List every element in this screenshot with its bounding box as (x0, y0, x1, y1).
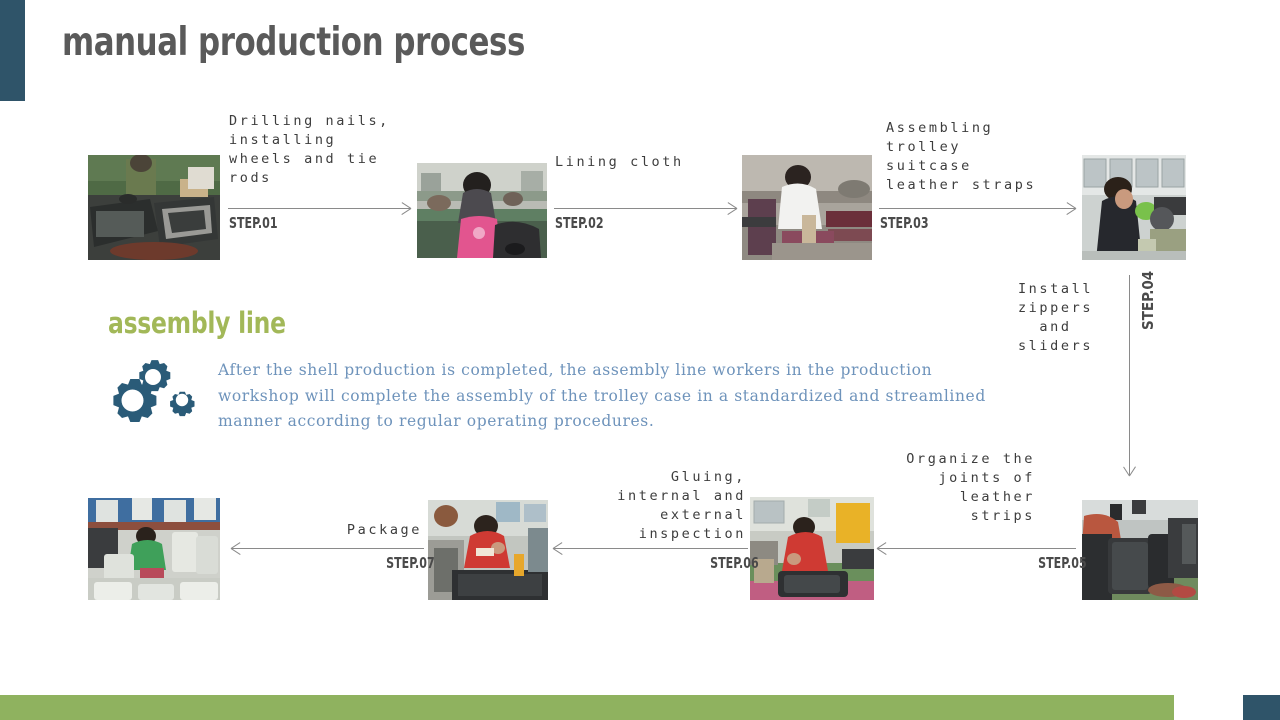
photo-6 (750, 497, 874, 600)
step-07-caption: Package (250, 521, 422, 540)
step-06-caption: Gluing, internal and external inspection (570, 468, 746, 544)
arrow-line (554, 208, 736, 209)
page-title: manual production process (62, 20, 525, 66)
gears-icon-svg (110, 356, 202, 442)
step-06-label: STEP.06 (710, 554, 759, 572)
photo-1 (88, 155, 220, 260)
arrow-head-left-icon (231, 543, 242, 554)
arrow-line (554, 548, 748, 549)
arrow-head-down-icon (1124, 465, 1135, 476)
step-01-caption: Drilling nails, installing wheels and ti… (229, 112, 404, 188)
step-01-label: STEP.01 (229, 214, 278, 232)
step-04-caption: Install zippers and sliders (1008, 280, 1103, 356)
arrow-head-left-icon (877, 543, 888, 554)
arrow-line (879, 208, 1075, 209)
photo-2-image (417, 163, 547, 258)
photo-2 (417, 163, 547, 258)
step-03-label: STEP.03 (880, 214, 929, 232)
photo-3 (742, 155, 872, 260)
arrow-head-right-icon (1065, 203, 1076, 214)
photo-1-image (88, 155, 220, 260)
photo-8-image (88, 498, 220, 600)
arrow-head-left-icon (553, 543, 564, 554)
step-05-label: STEP.05 (1038, 554, 1087, 572)
step-02-label: STEP.02 (555, 214, 604, 232)
assembly-line-heading: assembly line (108, 306, 286, 340)
photo-7 (428, 500, 548, 600)
gears-icon (110, 356, 202, 442)
step-07-label: STEP.07 (386, 554, 435, 572)
arrow-head-right-icon (400, 203, 411, 214)
assembly-line-body: After the shell production is completed,… (218, 358, 1008, 435)
slide-canvas: manual production process (0, 0, 1280, 720)
left-accent-bar (0, 0, 25, 101)
photo-3-image (742, 155, 872, 260)
arrow-line (878, 548, 1076, 549)
photo-5 (1082, 500, 1198, 600)
bottom-right-accent-square (1243, 695, 1280, 720)
step-05-caption: Organize the joints of leather strips (860, 450, 1035, 526)
photo-6-image (750, 497, 874, 600)
arrow-step-04 (1123, 275, 1137, 475)
step-03-caption: Assembling trolley suitcase leather stra… (886, 119, 1066, 195)
step-02-caption: Lining cloth (555, 153, 745, 172)
photo-5-image (1082, 500, 1198, 600)
bottom-accent-bar (0, 695, 1174, 720)
arrow-line (232, 548, 424, 549)
arrow-line (228, 208, 410, 209)
photo-7-image (428, 500, 548, 600)
arrow-head-right-icon (726, 203, 737, 214)
photo-8 (88, 498, 220, 600)
step-04-label: STEP.04 (1139, 271, 1157, 330)
photo-4-image (1082, 155, 1186, 260)
arrow-line (1129, 275, 1130, 475)
photo-4 (1082, 155, 1186, 260)
